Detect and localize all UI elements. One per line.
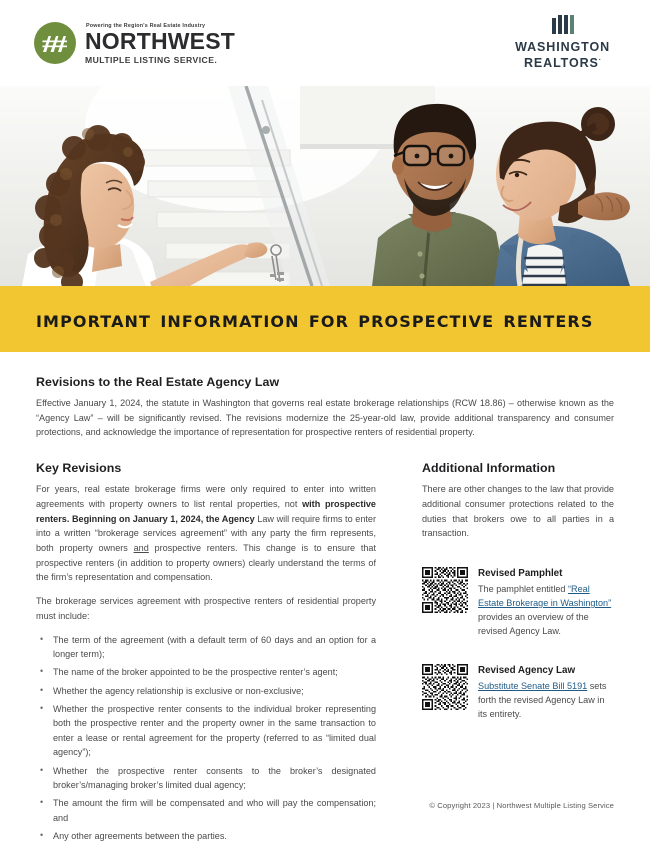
washington-realtors-logo: WASHINGTON REALTORS· (515, 15, 614, 72)
intro-section: Revisions to the Real Estate Agency Law … (36, 375, 614, 440)
page-title: Important Information for Prospective Re… (0, 305, 593, 333)
resource-text-before: The pamphlet entitled (478, 584, 568, 594)
list-item: The name of the broker appointed to be t… (36, 665, 376, 679)
additional-information-heading: Additional Information (422, 461, 614, 475)
intro-heading: Revisions to the Real Estate Agency Law (36, 375, 614, 389)
resource-text: Substitute Senate Bill 5191 sets forth t… (478, 679, 614, 721)
page-body: Revisions to the Real Estate Agency Law … (0, 352, 650, 841)
list-item: Whether the prospective renter consents … (36, 702, 376, 759)
kr-text-underline: and (134, 543, 149, 553)
resource-title: Revised Agency Law (478, 665, 614, 676)
resource-text-after: provides an overview of the revised Agen… (478, 612, 589, 636)
qr-code-revised-agency-law-icon[interactable] (422, 664, 468, 710)
page-header: Powering the Region's Real Estate Indust… (0, 0, 650, 86)
additional-information-paragraph: There are other changes to the law that … (422, 482, 614, 541)
resource-title: Revised Pamphlet (478, 568, 614, 579)
resource-body: Revised Agency Law Substitute Senate Bil… (478, 664, 614, 721)
resource-link[interactable]: Substitute Senate Bill 5191 (478, 681, 587, 691)
list-item: The term of the agreement (with a defaul… (36, 633, 376, 662)
key-revisions-heading: Key Revisions (36, 461, 376, 475)
trademark-mark: · (599, 57, 601, 64)
list-item: Any other agreements between the parties… (36, 829, 376, 841)
resource-body: Revised Pamphlet The pamphlet entitled “… (478, 567, 614, 638)
washington-realtors-line2: REALTORS· (515, 55, 610, 72)
resource-revised-agency-law: Revised Agency Law Substitute Senate Bil… (422, 664, 614, 721)
nwmls-wordmark: Powering the Region's Real Estate Indust… (85, 22, 235, 65)
washington-realtors-bars-icon (515, 15, 610, 34)
nwmls-roofline-icon (34, 22, 76, 64)
resource-text: The pamphlet entitled “Real Estate Broke… (478, 582, 614, 638)
intro-paragraph: Effective January 1, 2024, the statute i… (36, 396, 614, 440)
resource-revised-pamphlet: Revised Pamphlet The pamphlet entitled “… (422, 567, 614, 638)
two-column-layout: Key Revisions For years, real estate bro… (36, 461, 614, 841)
key-revisions-paragraph-1: For years, real estate brokerage firms w… (36, 482, 376, 585)
key-revisions-column: Key Revisions For years, real estate bro… (36, 461, 376, 841)
qr-code-revised-pamphlet-icon[interactable] (422, 567, 468, 613)
key-revisions-paragraph-2: The brokerage services agreement with pr… (36, 594, 376, 623)
list-item: Whether the agency relationship is exclu… (36, 684, 376, 698)
copyright-notice: © Copyright 2023 | Northwest Multiple Li… (0, 801, 650, 810)
flyer-page: Powering the Region's Real Estate Indust… (0, 0, 650, 841)
hero-image (0, 86, 650, 286)
additional-information-column: Additional Information There are other c… (422, 461, 614, 841)
nwmls-name: NORTHWEST (85, 30, 235, 53)
nwmls-logo: Powering the Region's Real Estate Indust… (34, 22, 235, 65)
list-item: Whether the prospective renter consents … (36, 764, 376, 793)
washington-realtors-line1: WASHINGTON (515, 39, 610, 56)
nwmls-subtitle: MULTIPLE LISTING SERVICE. (85, 55, 235, 65)
title-banner: Important Information for Prospective Re… (0, 286, 650, 352)
